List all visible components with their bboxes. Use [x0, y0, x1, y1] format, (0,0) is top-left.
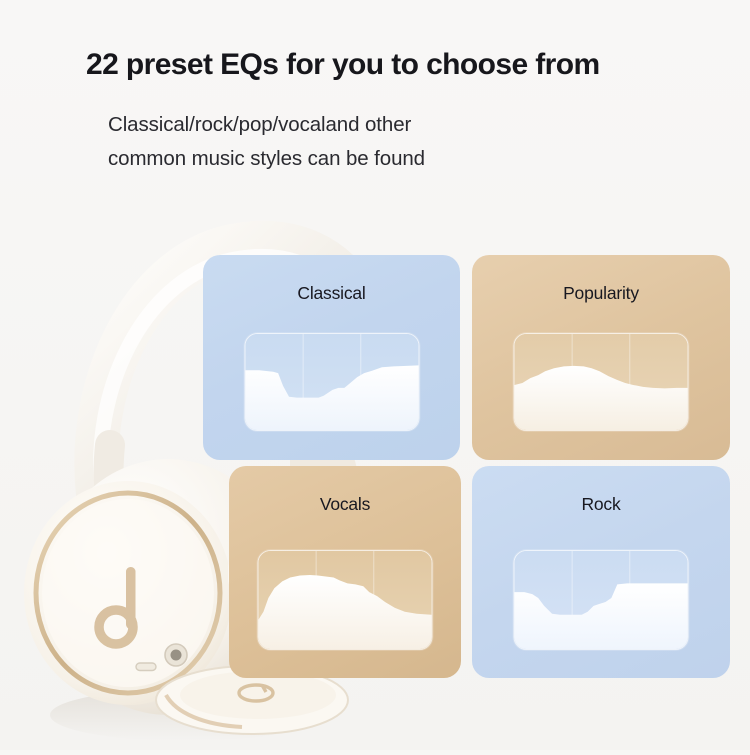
usb-c-port: [136, 663, 156, 671]
aux-jack: [165, 644, 187, 666]
eq-card-title: Popularity: [472, 283, 730, 304]
eq-curve-vocals: [258, 550, 433, 650]
eq-curve-classical: [244, 333, 419, 431]
promo-page: 22 preset EQs for you to choose from Cla…: [0, 0, 750, 750]
subtitle-line-1: Classical/rock/pop/vocaland other: [108, 108, 668, 142]
eq-card-title: Vocals: [229, 494, 461, 515]
page-subtitle: Classical/rock/pop/vocaland other common…: [108, 108, 668, 176]
eq-card-rock[interactable]: Rock: [472, 466, 730, 678]
eq-card-vocals[interactable]: Vocals: [229, 466, 461, 678]
eq-card-title: Rock: [472, 494, 730, 515]
eq-curve-rock: [514, 550, 689, 650]
subtitle-line-2: common music styles can be found: [108, 142, 668, 176]
eq-curve-popularity: [514, 333, 689, 431]
eq-card-title: Classical: [203, 283, 460, 304]
eq-card-classical[interactable]: Classical: [203, 255, 460, 460]
page-title: 22 preset EQs for you to choose from: [86, 48, 686, 82]
eq-card-popularity[interactable]: Popularity: [472, 255, 730, 460]
